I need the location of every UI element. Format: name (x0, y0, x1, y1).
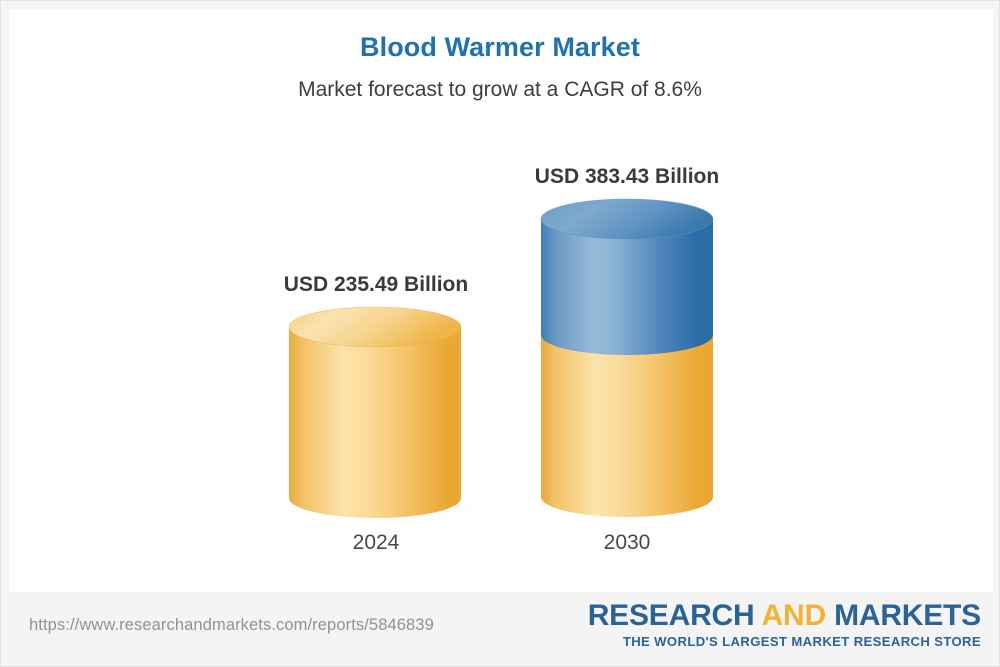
brand-word-and: AND (762, 599, 826, 632)
brand-word-markets: MARKETS (834, 599, 981, 632)
cylinder-bar-2024[interactable] (286, 306, 476, 521)
infographic-card: Blood Warmer Market Market forecast to g… (0, 0, 1000, 667)
brand-tagline: THE WORLD'S LARGEST MARKET RESEARCH STOR… (588, 634, 981, 649)
brand-word-research: RESEARCH (588, 599, 755, 632)
bar-value-label-2024: USD 235.49 Billion (206, 273, 546, 297)
cylinder-bar-2030[interactable] (537, 197, 729, 522)
source-url-link[interactable]: https://www.researchandmarkets.com/repor… (29, 616, 434, 635)
footer: https://www.researchandmarkets.com/repor… (1, 590, 1000, 666)
brand-logo[interactable]: RESEARCH AND MARKETS THE WORLD'S LARGEST… (588, 600, 981, 649)
bar-value-label-2030: USD 383.43 Billion (457, 165, 797, 189)
bar-category-label-2030: 2030 (457, 531, 797, 555)
chart-plot-area: USD 235.49 Billion (1, 1, 1000, 592)
brand-wordmark: RESEARCH AND MARKETS (588, 600, 981, 632)
